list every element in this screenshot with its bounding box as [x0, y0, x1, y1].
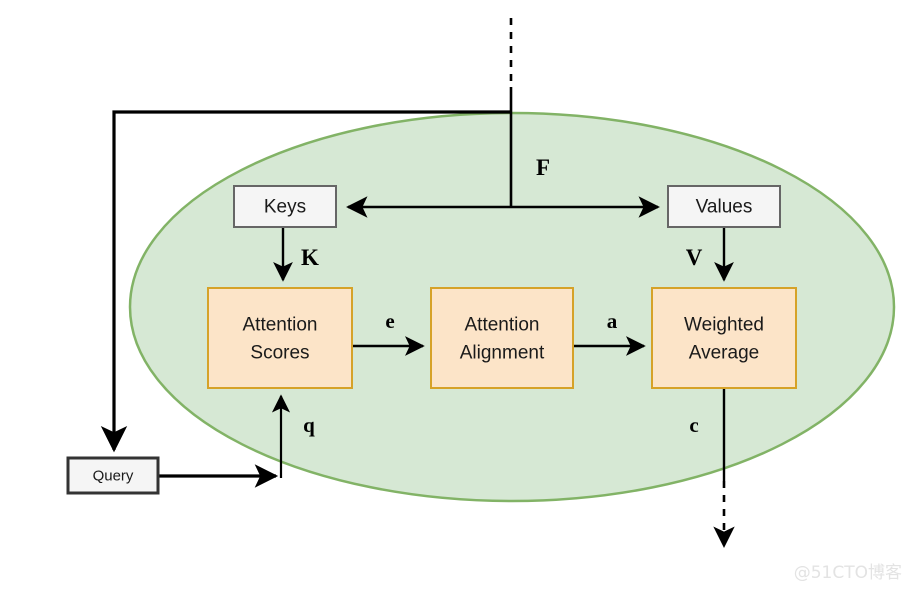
attention-scores-label-line2: Scores	[250, 343, 309, 364]
node-attention-alignment[interactable]: Attention Alignment	[431, 288, 573, 388]
weighted-average-box[interactable]	[652, 288, 796, 388]
attention-diagram: Keys Values Attention Scores Attention A…	[0, 0, 912, 590]
edge-label-F: F	[536, 155, 550, 180]
diagram-canvas: Keys Values Attention Scores Attention A…	[0, 0, 912, 590]
attention-alignment-box[interactable]	[431, 288, 573, 388]
edge-label-q: q	[303, 413, 315, 437]
weighted-average-label-line1: Weighted	[684, 315, 764, 336]
edge-label-e: e	[385, 309, 394, 333]
query-label: Query	[93, 468, 134, 485]
edge-label-V: V	[686, 245, 703, 270]
node-keys[interactable]: Keys	[234, 186, 336, 227]
attention-alignment-label-line2: Alignment	[460, 343, 545, 364]
values-label: Values	[696, 197, 753, 218]
node-attention-scores[interactable]: Attention Scores	[208, 288, 352, 388]
node-weighted-average[interactable]: Weighted Average	[652, 288, 796, 388]
attention-alignment-label-line1: Attention	[465, 315, 540, 336]
node-values[interactable]: Values	[668, 186, 780, 227]
keys-label: Keys	[264, 197, 306, 218]
attention-scores-label-line1: Attention	[243, 315, 318, 336]
weighted-average-label-line2: Average	[689, 343, 759, 364]
edge-label-c: c	[689, 413, 698, 437]
node-query[interactable]: Query	[68, 458, 158, 493]
edge-label-a: a	[607, 309, 618, 333]
watermark-label: @51CTO博客	[794, 563, 902, 583]
attention-scores-box[interactable]	[208, 288, 352, 388]
edge-label-K: K	[301, 245, 319, 270]
